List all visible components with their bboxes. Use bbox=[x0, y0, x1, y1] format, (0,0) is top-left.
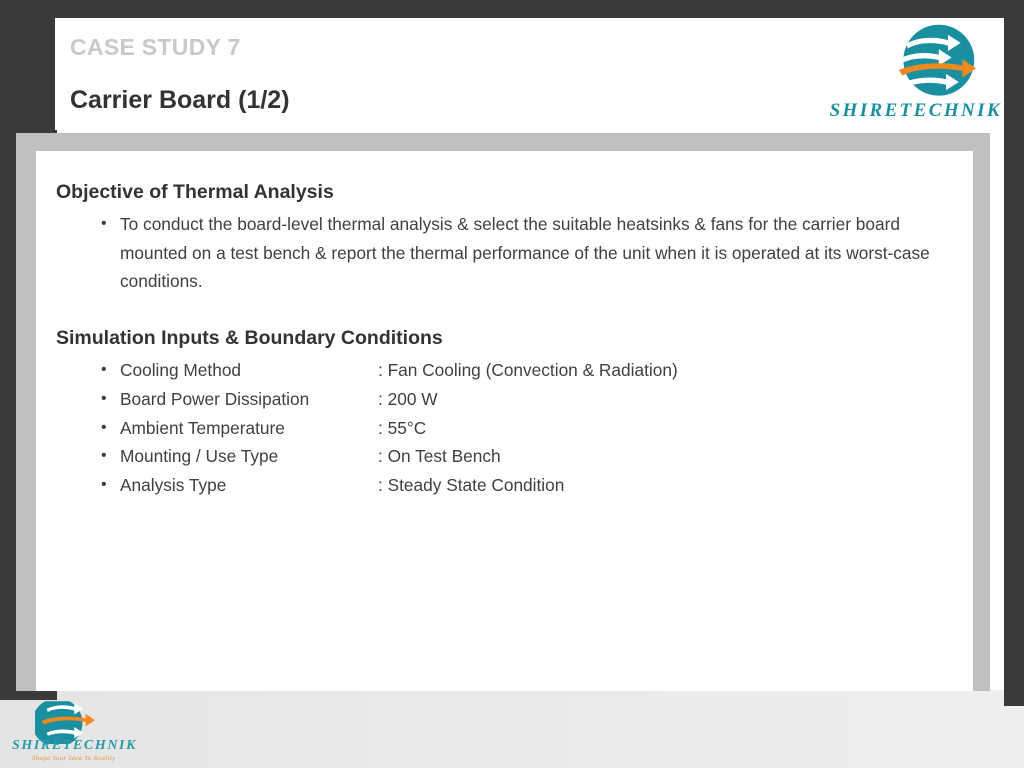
spec-label: Board Power Dissipation bbox=[120, 385, 378, 414]
simulation-inputs-list: Cooling Method : Fan Cooling (Convection… bbox=[99, 356, 949, 500]
globe-logo-icon bbox=[891, 22, 983, 102]
table-row: Analysis Type : Steady State Condition bbox=[99, 471, 949, 500]
spec-label: Cooling Method bbox=[120, 356, 378, 385]
case-study-kicker: CASE STUDY 7 bbox=[70, 34, 241, 61]
spec-value: : Fan Cooling (Convection & Radiation) bbox=[378, 356, 678, 385]
content-body: Objective of Thermal Analysis To conduct… bbox=[36, 151, 973, 691]
spec-label: Mounting / Use Type bbox=[120, 442, 378, 471]
slide-canvas: CASE STUDY 7 Carrier Board (1/2) SHIRETE… bbox=[0, 0, 1024, 768]
objective-text: To conduct the board-level thermal analy… bbox=[120, 210, 949, 296]
spec-label: Analysis Type bbox=[120, 471, 378, 500]
spec-value: : 200 W bbox=[378, 385, 438, 414]
table-row: Ambient Temperature : 55°C bbox=[99, 414, 949, 443]
brand-wordmark: SHIRETECHNIK bbox=[830, 100, 1002, 122]
brand-tagline: Shape Your Idea To Reality bbox=[32, 755, 116, 762]
section-heading-objective: Objective of Thermal Analysis bbox=[56, 181, 949, 204]
spec-value: : Steady State Condition bbox=[378, 471, 564, 500]
table-row: Mounting / Use Type : On Test Bench bbox=[99, 442, 949, 471]
brand-wordmark-footer: SHIRETECHNIK bbox=[12, 738, 137, 754]
objective-bullet-list: To conduct the board-level thermal analy… bbox=[99, 210, 949, 296]
spec-value: : On Test Bench bbox=[378, 442, 501, 471]
section-heading-simulation-inputs: Simulation Inputs & Boundary Conditions bbox=[56, 327, 949, 350]
spec-label: Ambient Temperature bbox=[120, 414, 378, 443]
frame-right-bar bbox=[1004, 16, 1024, 706]
brand-logo-header: SHIRETECHNIK bbox=[780, 12, 1005, 124]
footer-band bbox=[0, 690, 1024, 768]
table-row: Board Power Dissipation : 200 W bbox=[99, 385, 949, 414]
list-item: To conduct the board-level thermal analy… bbox=[99, 210, 949, 296]
page-title: Carrier Board (1/2) bbox=[70, 86, 290, 115]
content-panel-border: Objective of Thermal Analysis To conduct… bbox=[16, 133, 990, 691]
table-row: Cooling Method : Fan Cooling (Convection… bbox=[99, 356, 949, 385]
spec-value: : 55°C bbox=[378, 414, 426, 443]
brand-logo-footer: SHIRETECHNIK Shape Your Idea To Reality bbox=[10, 700, 150, 768]
